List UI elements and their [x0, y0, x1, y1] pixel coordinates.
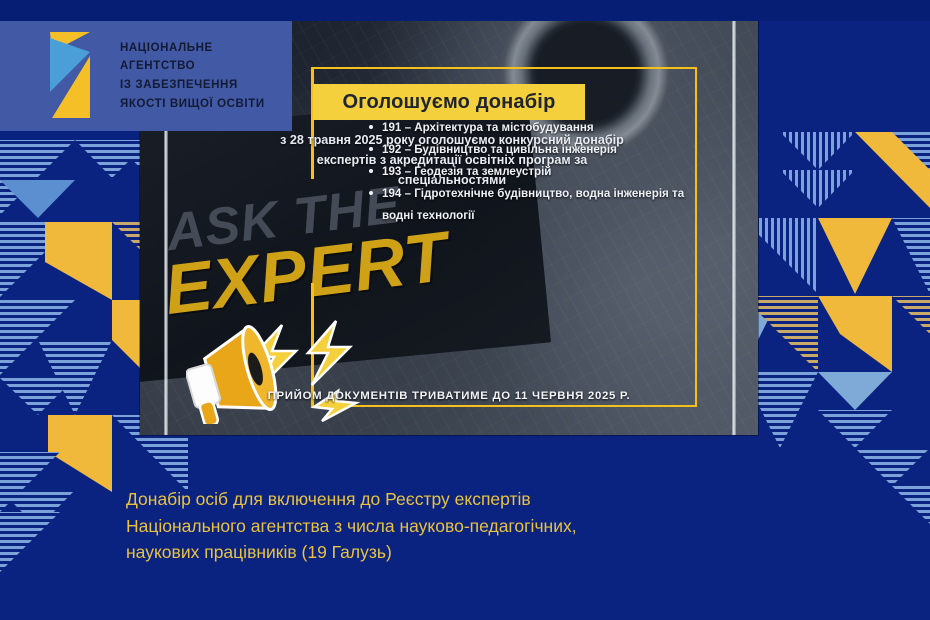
logo-line-3: ІЗ ЗАБЕЗПЕЧЕННЯ — [120, 76, 265, 95]
megaphone-icon — [186, 299, 416, 424]
poster-right-rail — [732, 21, 736, 435]
caption-line-1: Донабір осіб для включення до Реєстру ек… — [126, 486, 826, 513]
specialty-item: 191 – Архітектура та містобудування — [368, 117, 686, 139]
announcement-caption: Донабір осіб для включення до Реєстру ек… — [126, 486, 826, 566]
logo-line-2: АГЕНТСТВО — [120, 57, 265, 76]
logo-line-4: ЯКОСТІ ВИЩОЇ ОСВІТИ — [120, 95, 265, 114]
poster-deadline-text: ПРИЙОМ ДОКУМЕНТІВ ТРИВАТИМЕ ДО 11 ЧЕРВНЯ… — [140, 390, 758, 402]
national-agency-logo-icon — [38, 30, 106, 122]
specialty-item: 192 – Будівництво та цивільна інженерія — [368, 139, 686, 161]
caption-line-3: наукових працівників (19 Галузь) — [126, 539, 826, 566]
caption-line-2: Національного агентства з числа науково-… — [126, 513, 826, 540]
agency-logo-plate: НАЦІОНАЛЬНЕ АГЕНТСТВО ІЗ ЗАБЕЗПЕЧЕННЯ ЯК… — [0, 21, 292, 131]
agency-logo-text: НАЦІОНАЛЬНЕ АГЕНТСТВО ІЗ ЗАБЕЗПЕЧЕННЯ ЯК… — [120, 39, 265, 114]
logo-line-1: НАЦІОНАЛЬНЕ — [120, 39, 265, 58]
specialties-list: 191 – Архітектура та містобудування 192 … — [368, 117, 686, 227]
page-root: НАЦІОНАЛЬНЕ АГЕНТСТВО ІЗ ЗАБЕЗПЕЧЕННЯ ЯК… — [0, 0, 930, 620]
poster-headline-banner: Оголошуємо донабір — [313, 84, 585, 120]
top-navy-strip — [0, 0, 930, 21]
specialty-item: 193 – Геодезія та землеустрій — [368, 161, 686, 183]
specialty-item: 194 – Гідротехнічне будівництво, водна і… — [368, 183, 686, 227]
